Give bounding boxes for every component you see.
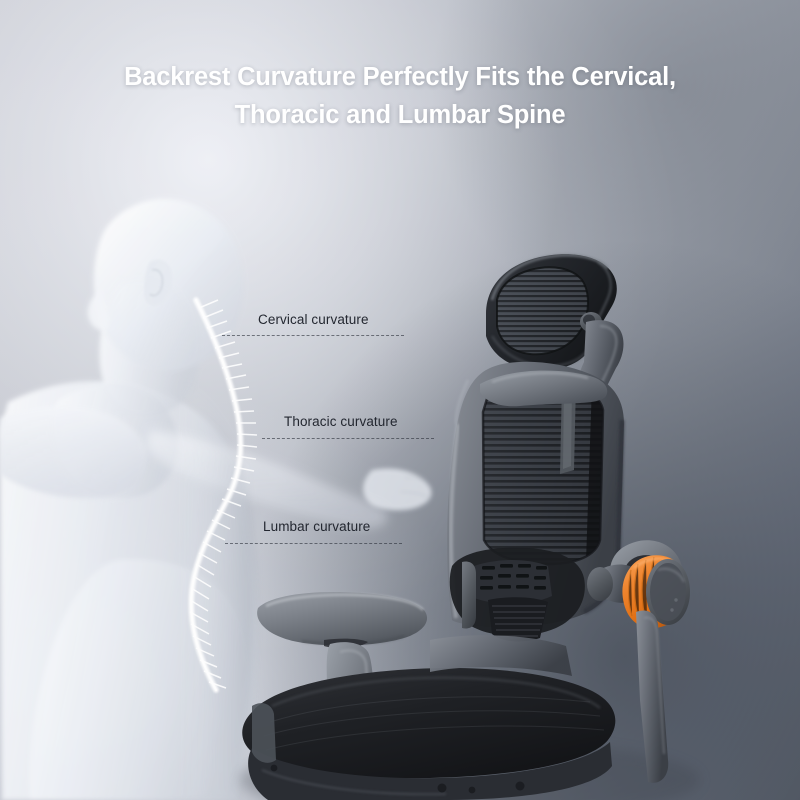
lumbar-slot-plate: [474, 560, 552, 604]
annotation-leader-cervical: [222, 335, 404, 336]
seat-cushion: [242, 668, 615, 778]
seat-front-edge: [252, 703, 276, 763]
seat: [242, 635, 615, 800]
lumbar-support: [450, 548, 585, 642]
knob-cap-inner: [650, 563, 686, 621]
annotation-label-lumbar: Lumbar curvature: [263, 519, 370, 534]
annotation-label-cervical: Cervical curvature: [258, 312, 369, 327]
headline-line-2: Thoracic and Lumbar Spine: [58, 96, 742, 134]
knob-arm-hub: [587, 567, 613, 601]
annotation-label-thoracic: Thoracic curvature: [284, 414, 398, 429]
lumbar-wedge: [488, 597, 548, 641]
tension-knob: [622, 555, 690, 628]
lumbar-paddle: [462, 562, 476, 629]
headline: Backrest Curvature Perfectly Fits the Ce…: [0, 58, 800, 134]
headline-line-1: Backrest Curvature Perfectly Fits the Ce…: [58, 58, 742, 96]
annotation-leader-lumbar: [225, 543, 402, 544]
product-marketing-image: Backrest Curvature Perfectly Fits the Ce…: [0, 0, 800, 800]
annotation-leader-thoracic: [262, 438, 434, 439]
